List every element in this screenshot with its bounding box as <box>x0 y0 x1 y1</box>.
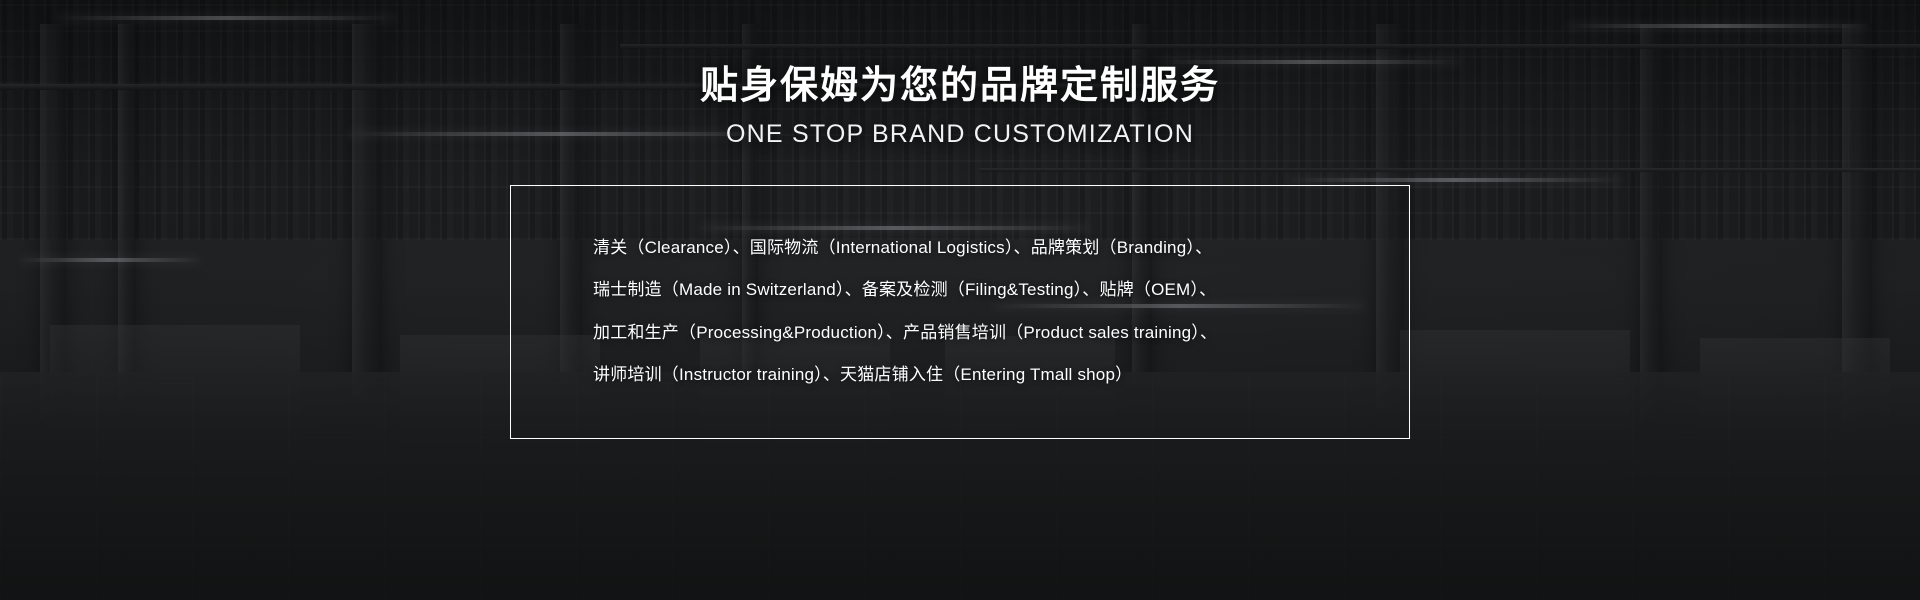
banner-headline: 贴身保姆为您的品牌定制服务 <box>700 65 1220 109</box>
service-line-3: 加工和生产（Processing&Production）、产品销售培训（Prod… <box>541 323 1379 343</box>
banner-subheadline: ONE STOP BRAND CUSTOMIZATION <box>726 119 1194 149</box>
banner-content: 贴身保姆为您的品牌定制服务 ONE STOP BRAND CUSTOMIZATI… <box>0 0 1920 600</box>
service-line-1: 清关（Clearance）、国际物流（International Logisti… <box>541 238 1379 258</box>
service-line-2: 瑞士制造（Made in Switzerland）、备案及检测（Filing&T… <box>541 280 1379 300</box>
brand-customization-banner: 贴身保姆为您的品牌定制服务 ONE STOP BRAND CUSTOMIZATI… <box>0 0 1920 600</box>
services-list-box: 清关（Clearance）、国际物流（International Logisti… <box>510 185 1410 439</box>
service-line-4: 讲师培训（Instructor training）、天猫店铺入住（Enterin… <box>541 365 1379 385</box>
